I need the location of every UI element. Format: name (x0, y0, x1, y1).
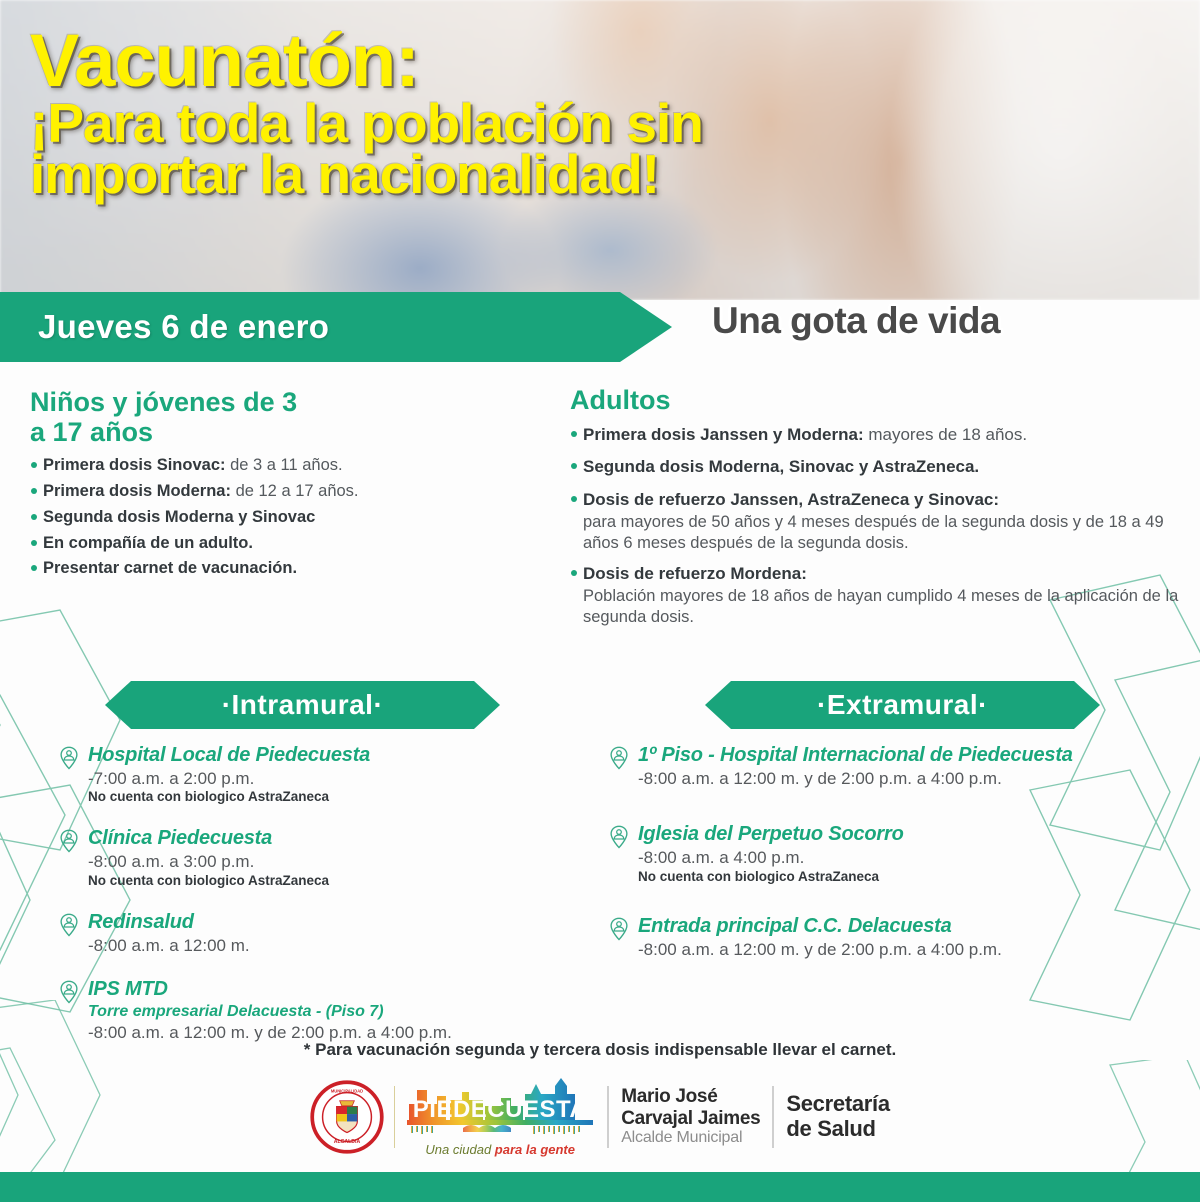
children-bullet-list: Primera dosis Sinovac: de 3 a 11 años. P… (30, 454, 560, 580)
bullet-bold: Primera dosis Sinovac: (43, 456, 226, 474)
list-item: Dosis de refuerzo Janssen, AstraZeneca y… (570, 488, 1185, 553)
children-section: Niños y jóvenes de 3 a 17 años Primera d… (30, 388, 560, 583)
svg-text:ALCALDIA: ALCALDIA (334, 1138, 361, 1144)
date-banner-label: Jueves 6 de enero (38, 308, 329, 346)
divider (772, 1086, 774, 1148)
mayor-name-line2: Carvajal Jaimes (621, 1108, 760, 1129)
divider (394, 1086, 395, 1148)
hero-title-line3: importar la nacionalidad! (30, 149, 703, 201)
bullet-subtext: Población mayores de 18 años de hayan cu… (583, 586, 1185, 627)
bullet-rest: de 3 a 11 años. (226, 456, 343, 474)
map-pin-person-icon (58, 913, 80, 937)
bullet-rest: mayores de 18 años. (864, 425, 1027, 444)
mayor-role: Alcalde Municipal (621, 1129, 760, 1147)
vaccination-poster: Vacunatón: ¡Para toda la población sin i… (0, 0, 1200, 1202)
bullet-bold: Segunda dosis Moderna y Sinovac (43, 508, 315, 526)
slogan-text: Una gota de vida (712, 300, 1000, 342)
list-item: Segunda dosis Moderna, Sinovac y AstraZe… (570, 455, 1185, 478)
list-item: Dosis de refuerzo Mordena: Población may… (570, 562, 1185, 627)
hero-title: Vacunatón: ¡Para toda la población sin i… (30, 26, 703, 201)
list-item: Hospital Local de Piedecuesta -7:00 a.m.… (58, 744, 578, 805)
extramural-location-list: 1º Piso - Hospital Internacional de Pied… (608, 744, 1168, 982)
location-name: Hospital Local de Piedecuesta (88, 744, 578, 767)
bottom-accent-bar (0, 1172, 1200, 1202)
map-pin-person-icon (608, 746, 630, 770)
list-item: Entrada principal C.C. Delacuesta -8:00 … (608, 915, 1168, 960)
city-tagline-part1: Una ciudad (425, 1142, 494, 1157)
intramural-location-list: Hospital Local de Piedecuesta -7:00 a.m.… (58, 744, 578, 1066)
location-hours: -8:00 a.m. a 12:00 m. y de 2:00 p.m. a 4… (638, 939, 1168, 960)
health-dept-block: Secretaría de Salud (786, 1092, 889, 1141)
location-hours: -8:00 a.m. a 3:00 p.m. (88, 851, 578, 872)
bullet-bold: Dosis de refuerzo Mordena: (583, 564, 807, 583)
location-name: Redinsalud (88, 911, 578, 934)
bullet-bold: Primera dosis Moderna: (43, 482, 231, 500)
location-hours: -7:00 a.m. a 2:00 p.m. (88, 768, 578, 789)
children-title-line1: Niños y jóvenes de 3 (30, 388, 560, 418)
adults-bullet-list: Primera dosis Janssen y Moderna: mayores… (570, 423, 1185, 628)
map-pin-person-icon (58, 829, 80, 853)
location-note: No cuenta con biologico AstraZaneca (638, 869, 1168, 885)
city-logo: PIEDECUESTA (405, 1076, 595, 1157)
location-hours: -8:00 a.m. a 12:00 m. (88, 935, 578, 956)
bullet-bold: Primera dosis Janssen y Moderna: (583, 425, 864, 444)
list-item: Primera dosis Sinovac: de 3 a 11 años. (30, 454, 560, 477)
city-tagline-part2: para la gente (495, 1142, 575, 1157)
hero-banner: Vacunatón: ¡Para toda la población sin i… (0, 0, 1200, 300)
list-item: En compañía de un adulto. (30, 532, 560, 555)
list-item: Clínica Piedecuesta -8:00 a.m. a 3:00 p.… (58, 827, 578, 888)
children-title-line2: a 17 años (30, 418, 560, 448)
location-hours: -8:00 a.m. a 4:00 p.m. (638, 847, 1168, 868)
map-pin-person-icon (58, 980, 80, 1004)
intramural-tag: ·Intramural· (105, 681, 500, 729)
list-item: Primera dosis Janssen y Moderna: mayores… (570, 423, 1185, 446)
coat-of-arms-seal-icon: ALCALDIA MUNICIPALIDAD (310, 1080, 384, 1154)
map-pin-person-icon (58, 746, 80, 770)
footer-logo-row: ALCALDIA MUNICIPALIDAD (0, 1076, 1200, 1157)
list-item: IPS MTD Torre empresarial Delacuesta - (… (58, 978, 578, 1043)
city-skyline-logo-icon: PIEDECUESTA (405, 1076, 595, 1138)
bullet-bold: Dosis de refuerzo Janssen, AstraZeneca y… (583, 490, 999, 509)
hero-title-line2: ¡Para toda la población sin (30, 98, 703, 150)
date-banner: Jueves 6 de enero (0, 292, 672, 362)
list-item: Primera dosis Moderna: de 12 a 17 años. (30, 480, 560, 503)
map-pin-person-icon (608, 825, 630, 849)
list-item: Redinsalud -8:00 a.m. a 12:00 m. (58, 911, 578, 956)
intramural-tag-label: ·Intramural· (222, 689, 384, 721)
list-item: Iglesia del Perpetuo Socorro -8:00 a.m. … (608, 823, 1168, 884)
mayor-block: Mario José Carvajal Jaimes Alcalde Munic… (621, 1086, 760, 1146)
location-name: Clínica Piedecuesta (88, 827, 578, 850)
svg-text:MUNICIPALIDAD: MUNICIPALIDAD (331, 1088, 363, 1093)
bullet-bold: Presentar carnet de vacunación. (43, 559, 297, 577)
list-item: 1º Piso - Hospital Internacional de Pied… (608, 744, 1168, 789)
list-item: Segunda dosis Moderna y Sinovac (30, 506, 560, 529)
bullet-rest: de 12 a 17 años. (231, 482, 359, 500)
footnote-text: * Para vacunación segunda y tercera dosi… (0, 1040, 1200, 1060)
adults-section: Adultos Primera dosis Janssen y Moderna:… (570, 386, 1185, 636)
mayor-name-line1: Mario José (621, 1086, 760, 1107)
health-dept-line2: de Salud (786, 1117, 889, 1142)
city-tagline: Una ciudad para la gente (405, 1142, 595, 1157)
health-dept-line1: Secretaría (786, 1092, 889, 1117)
hero-title-line1: Vacunatón: (30, 26, 703, 96)
divider (607, 1086, 609, 1148)
location-note: No cuenta con biologico AstraZaneca (88, 873, 578, 889)
map-pin-person-icon (608, 917, 630, 941)
extramural-tag-label: ·Extramural· (817, 689, 988, 721)
location-hours: -8:00 a.m. a 12:00 m. y de 2:00 p.m. a 4… (638, 768, 1168, 789)
bullet-bold: Segunda dosis Moderna, Sinovac y AstraZe… (583, 457, 979, 476)
extramural-tag: ·Extramural· (705, 681, 1100, 729)
location-name: 1º Piso - Hospital Internacional de Pied… (638, 744, 1168, 767)
location-name: Entrada principal C.C. Delacuesta (638, 915, 1168, 938)
children-section-title: Niños y jóvenes de 3 a 17 años (30, 388, 560, 447)
location-sub: Torre empresarial Delacuesta - (Piso 7) (88, 1002, 578, 1021)
location-name: Iglesia del Perpetuo Socorro (638, 823, 1168, 846)
location-note: No cuenta con biologico AstraZaneca (88, 789, 578, 805)
bullet-subtext: para mayores de 50 años y 4 meses despué… (583, 512, 1185, 553)
list-item: Presentar carnet de vacunación. (30, 557, 560, 580)
bullet-bold: En compañía de un adulto. (43, 534, 253, 552)
adults-section-title: Adultos (570, 386, 1185, 416)
location-name: IPS MTD (88, 978, 578, 1001)
